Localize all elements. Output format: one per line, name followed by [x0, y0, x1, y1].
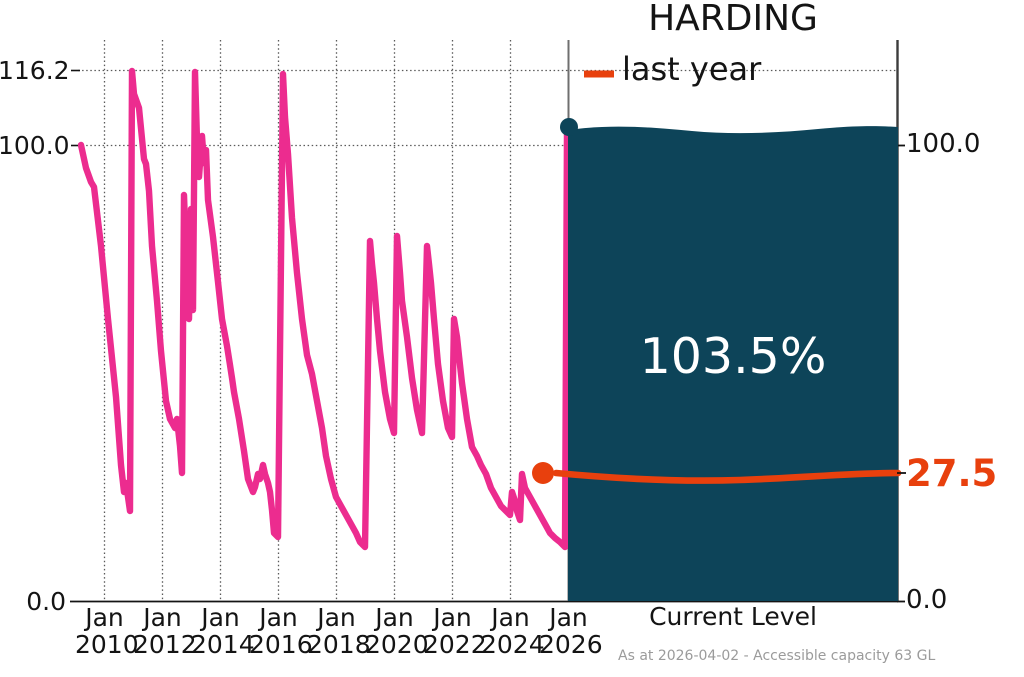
current-level-marker — [560, 118, 578, 136]
x-tick-2016-month: Jan — [249, 604, 308, 632]
x-tick-2024-month: Jan — [481, 604, 540, 632]
right-axis-tick-100: 100.0 — [906, 129, 980, 159]
current-percent-label: 103.5% — [568, 328, 898, 385]
x-tick-2022-month: Jan — [423, 604, 482, 632]
current-level-axis-label: Current Level — [568, 602, 898, 631]
x-tick-2010-month: Jan — [75, 604, 134, 632]
x-tick-2012-year: 2012 — [133, 631, 192, 659]
chart-canvas: HARDING last year 103.5% 27.5 100.0 0.0 … — [0, 0, 1024, 677]
last-year-value-label: 27.5 — [906, 452, 997, 495]
left-axis-ticks — [71, 71, 80, 146]
storage-level-line — [81, 71, 567, 547]
x-tick-2012-month: Jan — [133, 604, 192, 632]
legend-label-last-year: last year — [622, 50, 761, 88]
x-tick-2014-year: 2014 — [191, 631, 250, 659]
x-tick-2018-month: Jan — [307, 604, 366, 632]
x-gridlines — [105, 40, 569, 601]
x-tick-2018-year: 2018 — [307, 631, 366, 659]
x-tick-2016-year: 2016 — [249, 631, 308, 659]
x-tick-2020-month: Jan — [365, 604, 424, 632]
x-tick-2026-year: 2026 — [539, 631, 598, 659]
x-tick-2022-year: 2022 — [423, 631, 482, 659]
last-year-marker-dot — [532, 462, 554, 484]
left-axis-tick-116: 116.2 — [0, 56, 66, 85]
chart-title: HARDING — [568, 0, 898, 39]
right-axis-tick-0: 0.0 — [906, 585, 947, 615]
x-tick-2010-year: 2010 — [75, 631, 134, 659]
x-tick-2014-month: Jan — [191, 604, 250, 632]
footer-note: As at 2026-04-02 - Accessible capacity 6… — [618, 648, 935, 664]
x-tick-2024-year: 2024 — [481, 631, 540, 659]
left-axis-tick-100: 100.0 — [0, 131, 66, 160]
left-axis-tick-0: 0.0 — [0, 587, 66, 616]
x-tick-2020-year: 2020 — [365, 631, 424, 659]
